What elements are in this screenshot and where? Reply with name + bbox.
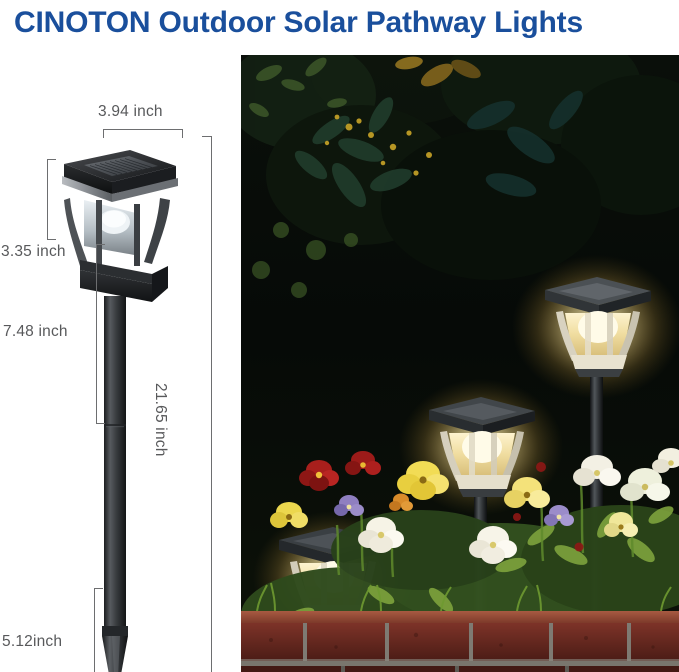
bracket-width-tick-left [103,129,104,138]
bracket-pole-tick-top [96,244,105,245]
bracket-total-line [211,136,212,672]
bracket-head-tick-top [47,159,56,160]
bracket-pole-line [96,244,97,424]
product-drawing [40,88,200,672]
dimension-diagram: 3.94 inch 3.35 inch 7.48 inch 21.65 inch… [0,48,238,672]
dimension-label-pole-height: 7.48 inch [3,323,68,341]
dimension-label-lamp-head-height: 3.35 inch [1,243,66,261]
dimension-label-width-top: 3.94 inch [98,103,163,121]
bracket-head-line [47,159,48,240]
bracket-width-tick-right [182,129,183,138]
page-title: CINOTON Outdoor Solar Pathway Lights [14,2,674,46]
bracket-total-tick-top [202,136,212,137]
dimension-label-total-height: 21.65 inch [151,383,169,457]
bracket-head-tick-bottom [47,239,56,240]
dimension-label-stake-length: 5.12inch [2,633,62,651]
product-lifestyle-photo [241,55,679,672]
bracket-stake-tick-top [94,588,103,589]
bracket-width-line [103,129,183,130]
bracket-pole-tick-bottom [96,423,105,424]
bracket-stake-line [94,588,95,672]
brick-wall [241,611,679,672]
product-image-page: CINOTON Outdoor Solar Pathway Lights [0,0,679,672]
